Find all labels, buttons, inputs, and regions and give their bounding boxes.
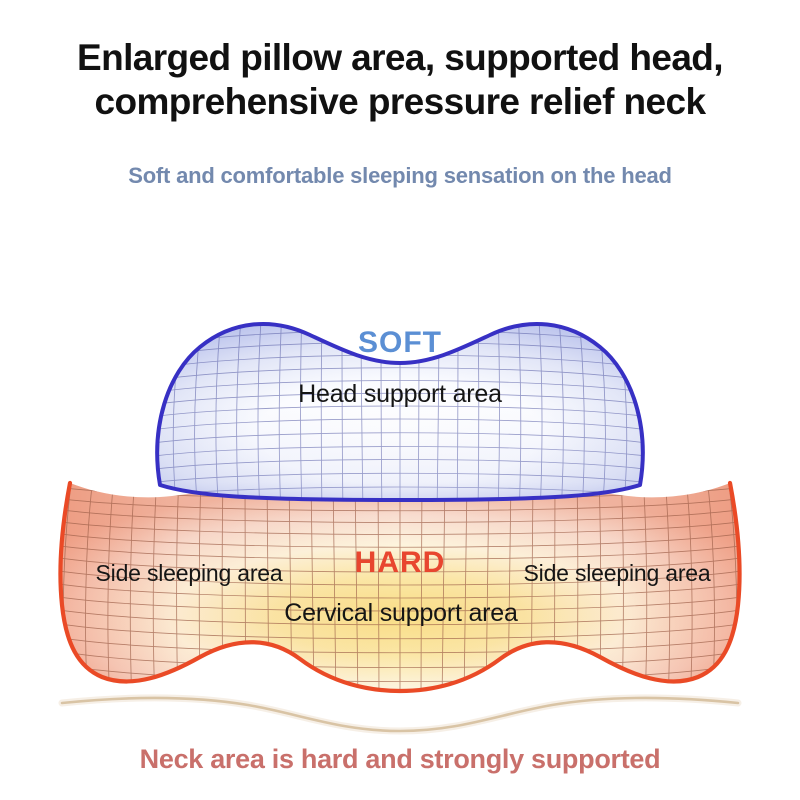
page-subtitle: Soft and comfortable sleeping sensation …	[0, 162, 800, 190]
pillow-wireframe-svg	[0, 195, 800, 735]
side-sleeping-label-left: Side sleeping area	[96, 560, 283, 587]
soft-badge: SOFT	[358, 326, 442, 360]
side-sleeping-label-right: Side sleeping area	[524, 560, 711, 587]
head-support-label: Head support area	[298, 380, 502, 409]
hard-badge: HARD	[355, 546, 446, 580]
pillow-diagram	[0, 195, 800, 735]
infographic-page: Enlarged pillow area, supported head, co…	[0, 0, 800, 800]
pillow-shadow-line	[62, 698, 738, 731]
bottom-caption: Neck area is hard and strongly supported	[0, 744, 800, 775]
cervical-support-label: Cervical support area	[284, 599, 517, 628]
hard-zone-group	[52, 477, 748, 710]
page-title-line-2: comprehensive pressure relief neck	[0, 80, 800, 124]
pillow-shadow-line-soft	[62, 698, 738, 731]
page-title: Enlarged pillow area, supported head, co…	[0, 36, 800, 124]
page-title-line-1: Enlarged pillow area, supported head,	[0, 36, 800, 80]
